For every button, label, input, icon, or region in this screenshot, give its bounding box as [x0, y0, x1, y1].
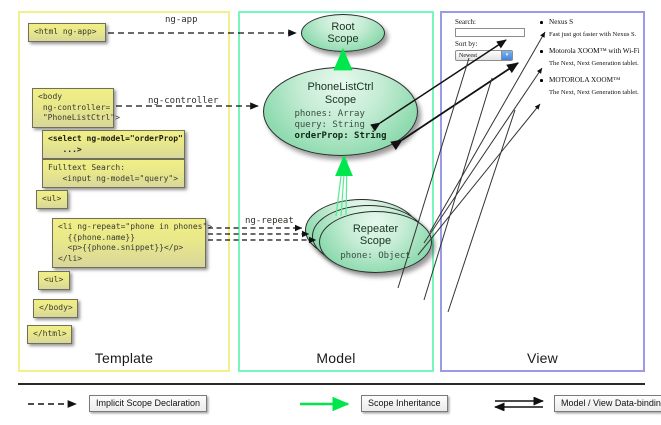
- scope-phonelistctrl-props: phones: Array query: StringorderProp: St…: [294, 109, 386, 142]
- scope-prop-lines: phones: Array query: String: [294, 109, 364, 130]
- scope-repeater: Repeater Scope phone: Object: [319, 211, 432, 273]
- phone-list: Nexus S Fast just got faster with Nexus …: [540, 18, 640, 105]
- green-arrow-icon: [300, 397, 356, 411]
- scope-repeater-title: Repeater Scope: [353, 223, 398, 248]
- scope-prop-orderprop: orderProp: String: [294, 131, 386, 141]
- scope-phonelistctrl: PhoneListCtrl Scope phones: Array query:…: [263, 67, 418, 156]
- panel-template-label: Template: [20, 350, 228, 366]
- view-form: Search: Sort by: Newest ▾: [455, 18, 527, 61]
- search-label: Search:: [455, 18, 527, 27]
- chevron-down-icon: ▾: [501, 51, 512, 60]
- phone-snippet: Fast just got faster with Nexus S.: [540, 31, 640, 39]
- legend-label-binding: Model / View Data-binding: [554, 395, 661, 412]
- code-box-select-tag: <select ng-model="orderProp" ...>: [42, 130, 185, 159]
- code-box-fulltext-search: Fulltext Search: <input ng-model="query"…: [42, 159, 185, 188]
- list-item: Nexus S Fast just got faster with Nexus …: [540, 18, 640, 39]
- phone-name: MOTOROLA XOOM™: [540, 76, 640, 85]
- code-box-html-open: <html ng-app>: [28, 23, 106, 42]
- dashed-arrow-icon: [28, 397, 84, 411]
- code-box-html-close: </html>: [27, 325, 72, 344]
- code-box-li-ng-repeat: <li ng-repeat="phone in phones"> {{phone…: [52, 218, 206, 268]
- edge-label-ng-controller: ng-controller: [148, 96, 218, 106]
- legend-item-implicit-scope-declaration: Implicit Scope Declaration: [28, 395, 207, 412]
- sort-by-select[interactable]: Newest ▾: [455, 50, 513, 61]
- code-box-ul-close: <ul>: [38, 271, 70, 290]
- legend-item-scope-inheritance: Scope Inheritance: [300, 395, 448, 412]
- scope-repeater-props: phone: Object: [340, 251, 410, 262]
- diagram-canvas: Template Model View <html ng-app> <body …: [0, 0, 661, 425]
- legend: Implicit Scope Declaration Scope Inherit…: [18, 383, 645, 419]
- list-item: MOTOROLA XOOM™ The Next, Next Generation…: [540, 76, 640, 97]
- scope-phonelistctrl-title: PhoneListCtrl Scope: [307, 81, 373, 106]
- list-item: Motorola XOOM™ with Wi-Fi The Next, Next…: [540, 47, 640, 68]
- phone-snippet: The Next, Next Generation tablet.: [540, 89, 640, 97]
- code-box-ul-open: <ul>: [36, 190, 68, 209]
- edge-label-ng-repeat: ng-repeat: [245, 216, 294, 226]
- legend-label-inheritance: Scope Inheritance: [361, 395, 448, 412]
- legend-item-data-binding: Model / View Data-binding: [493, 395, 661, 412]
- phone-snippet: The Next, Next Generation tablet.: [540, 60, 640, 68]
- phone-name: Nexus S: [540, 18, 640, 27]
- code-box-body-close: </body>: [33, 299, 78, 318]
- sort-by-selected-value: Newest: [459, 53, 477, 59]
- panel-model: Model: [238, 11, 434, 372]
- code-box-body-open: <body ng-controller= "PhoneListCtrl">: [32, 88, 114, 128]
- phone-name: Motorola XOOM™ with Wi-Fi: [540, 47, 640, 56]
- scope-root: Root Scope: [301, 14, 385, 52]
- double-arrow-icon: [493, 397, 549, 411]
- edge-label-ng-app: ng-app: [165, 15, 198, 25]
- legend-label-implicit: Implicit Scope Declaration: [89, 395, 207, 412]
- search-input[interactable]: [455, 28, 525, 37]
- sort-by-label: Sort by:: [455, 40, 527, 49]
- panel-model-label: Model: [240, 350, 432, 366]
- scope-root-title: Root Scope: [327, 21, 358, 46]
- panel-view-label: View: [442, 350, 643, 366]
